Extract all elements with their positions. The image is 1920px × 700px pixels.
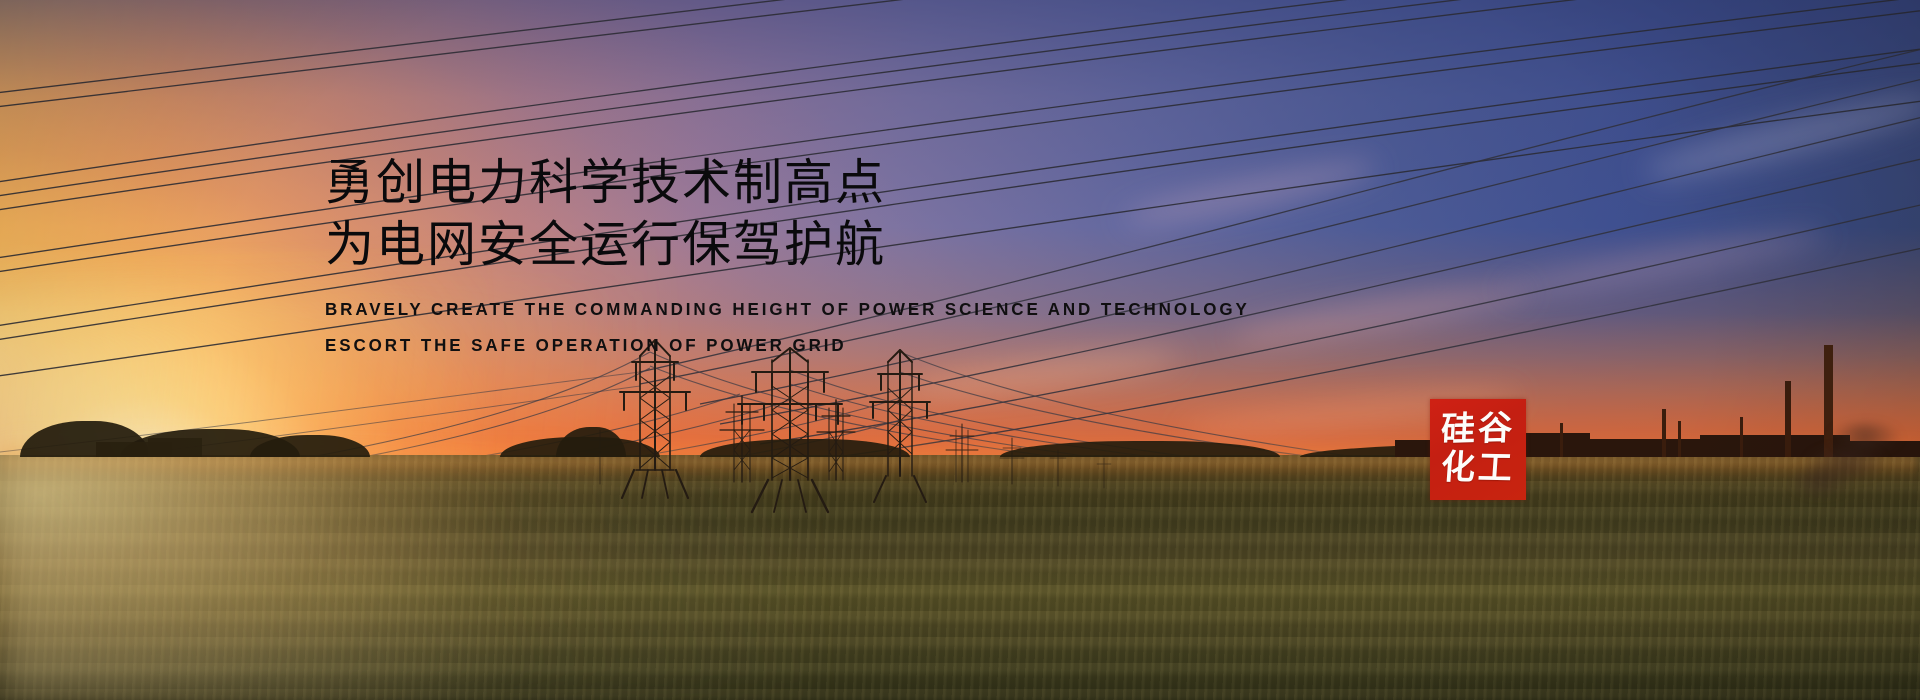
- pylon-left: [620, 340, 690, 498]
- headline-line-1: 勇创电力科学技术制高点: [325, 152, 1425, 214]
- headline-line-2: 为电网安全运行保驾护航: [325, 214, 1425, 276]
- hero-banner: 勇创电力科学技术制高点 为电网安全运行保驾护航 BRAVELY CREATE T…: [0, 0, 1920, 700]
- pylon-distant-3: [946, 424, 978, 482]
- logo-text-row-1: 硅谷: [1440, 410, 1516, 450]
- pylon-distant-5: [1050, 450, 1066, 486]
- pylon-right-mid: [870, 350, 930, 502]
- banner-copy: 勇创电力科学技术制高点 为电网安全运行保驾护航 BRAVELY CREATE T…: [325, 152, 1425, 360]
- pylon-distant-4: [1000, 438, 1024, 484]
- pylon-distant-6: [1097, 458, 1111, 488]
- subline-line-2: ESCORT THE SAFE OPERATION OF POWER GRID: [325, 330, 1392, 360]
- company-logo-stamp[interactable]: 硅谷 化工: [1430, 399, 1526, 500]
- logo-stamp-inner: 硅谷 化工: [1430, 399, 1526, 500]
- pylon-distant-2: [817, 400, 855, 480]
- subline-line-1: BRAVELY CREATE THE COMMANDING HEIGHT OF …: [325, 294, 1392, 324]
- pylon-distant-1: [720, 396, 764, 482]
- logo-text-row-2: 化工: [1440, 449, 1517, 488]
- pylon-distant-7: [586, 430, 614, 484]
